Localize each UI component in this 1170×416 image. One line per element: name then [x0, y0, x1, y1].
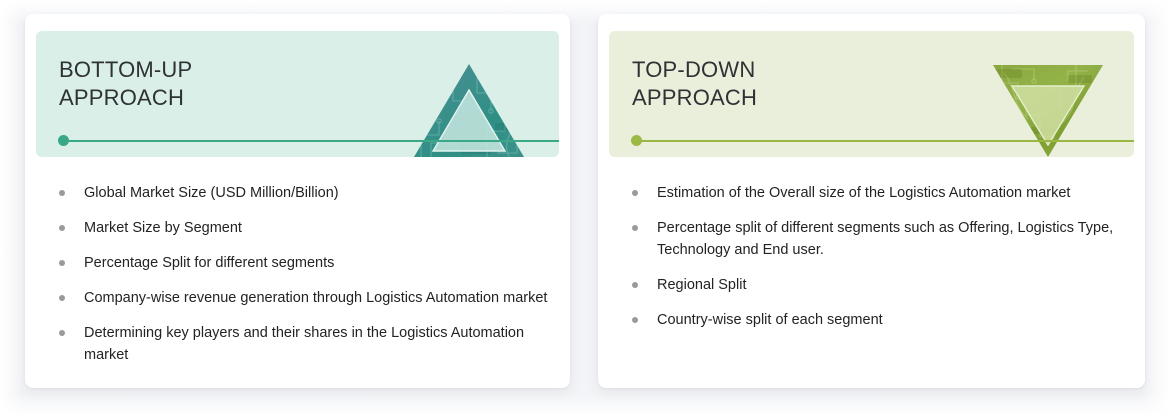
bottom-up-bullet-list: Global Market Size (USD Million/Billion)…: [56, 182, 554, 366]
top-down-banner: TOP-DOWN APPROACH: [609, 31, 1134, 157]
list-item: Regional Split: [629, 274, 1129, 296]
top-down-bullet-list: Estimation of the Overall size of the Lo…: [629, 182, 1129, 331]
triangle-down-icon: [944, 31, 1134, 157]
top-down-approach-card: TOP-DOWN APPROACH Estimation of the Over…: [598, 14, 1145, 388]
accent-dot: [631, 135, 642, 146]
list-item: Percentage Split for different segments: [56, 252, 554, 274]
accent-dot: [58, 135, 69, 146]
list-item: Estimation of the Overall size of the Lo…: [629, 182, 1129, 204]
list-item: Determining key players and their shares…: [56, 322, 554, 366]
list-item: Market Size by Segment: [56, 217, 554, 239]
list-item: Global Market Size (USD Million/Billion): [56, 182, 554, 204]
accent-line: [633, 140, 1134, 142]
list-item: Percentage split of different segments s…: [629, 217, 1129, 261]
triangle-up-icon: [369, 31, 559, 157]
page-title: BOTTOM-UP APPROACH: [59, 56, 192, 112]
accent-line: [60, 140, 559, 142]
bottom-up-banner: BOTTOM-UP APPROACH: [36, 31, 559, 157]
list-item: Country-wise split of each segment: [629, 309, 1129, 331]
page-title: TOP-DOWN APPROACH: [632, 56, 757, 112]
methodology-approaches-page: BOTTOM-UP APPROACH Global Market Size (U…: [0, 0, 1170, 416]
bottom-up-approach-card: BOTTOM-UP APPROACH Global Market Size (U…: [25, 14, 570, 388]
list-item: Company-wise revenue generation through …: [56, 287, 554, 309]
